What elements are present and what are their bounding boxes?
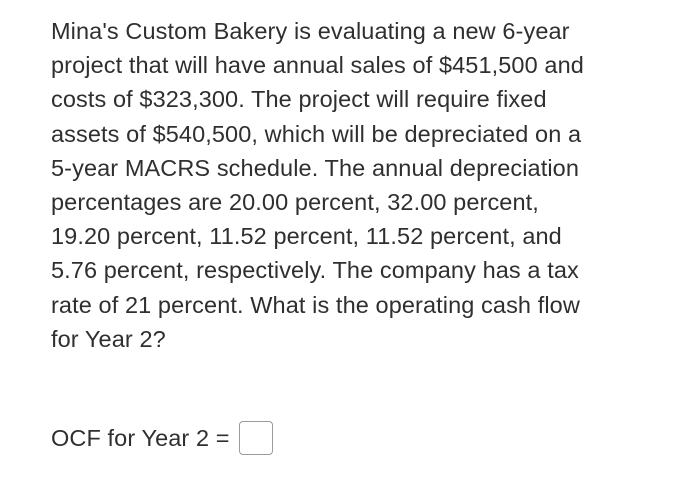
question-line: assets of $540,500, which will be deprec…: [51, 117, 651, 151]
question-line: percentages are 20.00 percent, 32.00 per…: [51, 185, 651, 219]
question-line: project that will have annual sales of $…: [51, 48, 651, 82]
question-text: Mina's Custom Bakery is evaluating a new…: [51, 14, 651, 356]
question-line: 5-year MACRS schedule. The annual deprec…: [51, 151, 651, 185]
question-line: 19.20 percent, 11.52 percent, 11.52 perc…: [51, 219, 651, 253]
question-line: Mina's Custom Bakery is evaluating a new…: [51, 14, 651, 48]
question-line: rate of 21 percent. What is the operatin…: [51, 288, 651, 322]
answer-input[interactable]: [239, 421, 273, 455]
question-page: Mina's Custom Bakery is evaluating a new…: [0, 0, 700, 490]
answer-row: OCF for Year 2 =: [51, 418, 273, 458]
answer-label: OCF for Year 2 =: [51, 418, 230, 458]
question-line: for Year 2?: [51, 322, 651, 356]
question-line: costs of $323,300. The project will requ…: [51, 82, 651, 116]
question-line: 5.76 percent, respectively. The company …: [51, 253, 651, 287]
